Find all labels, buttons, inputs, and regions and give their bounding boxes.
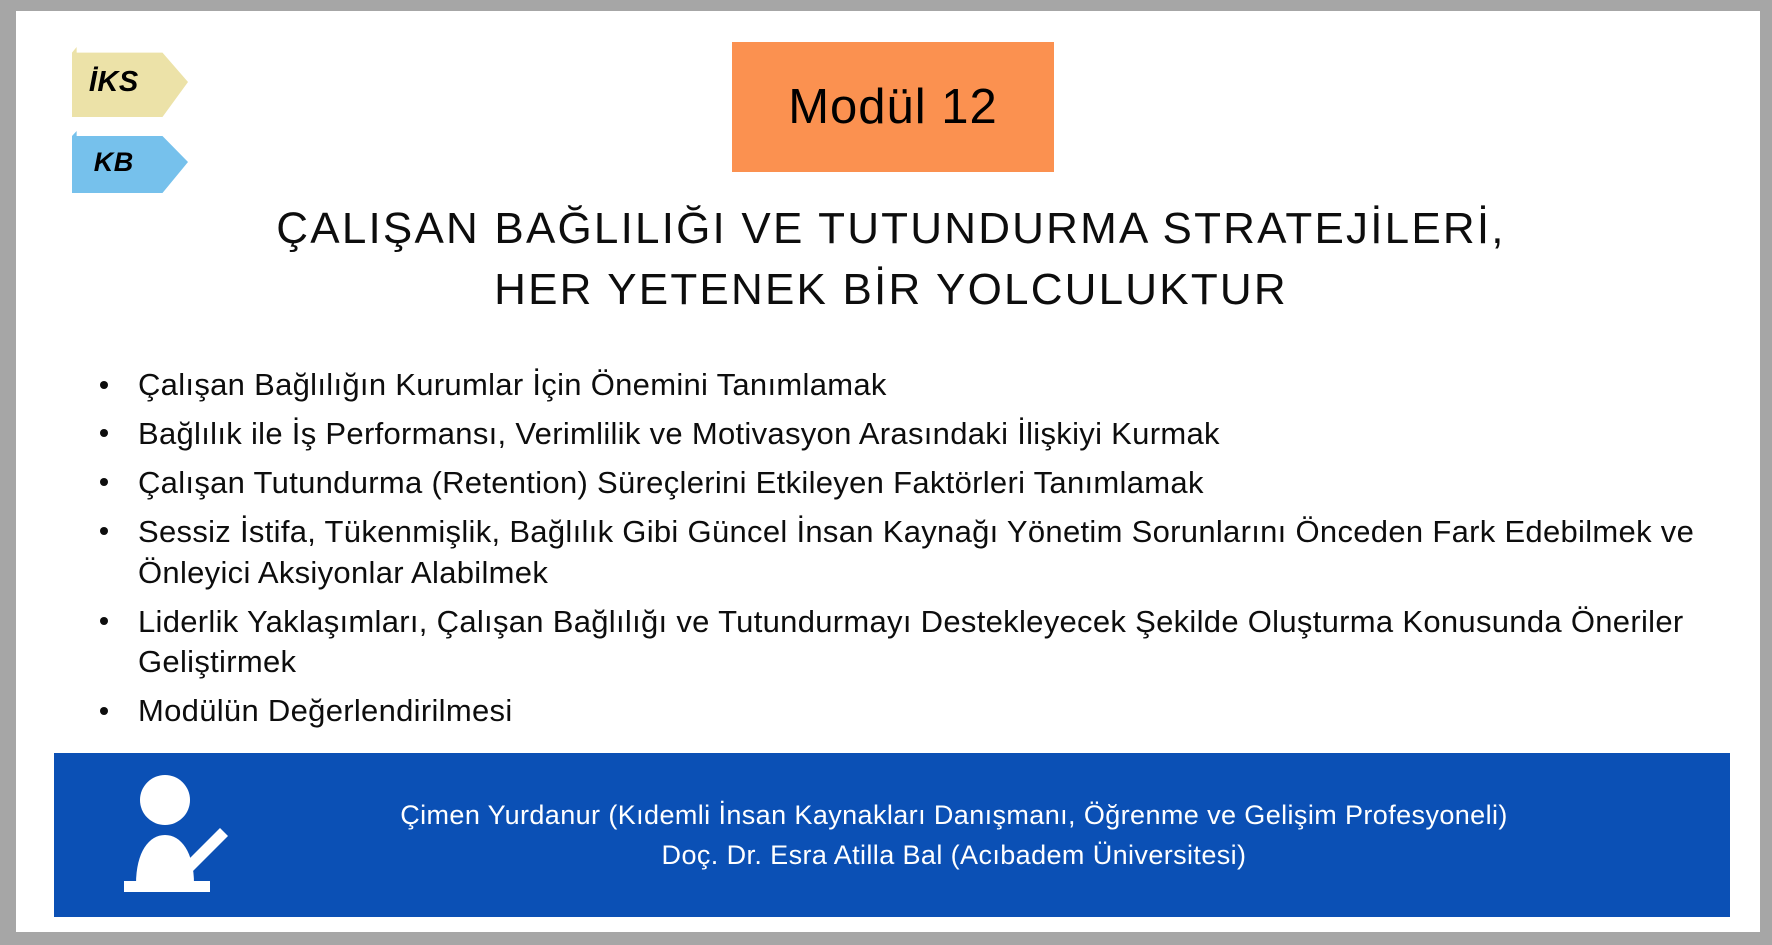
- bullet-dot-icon: [100, 429, 108, 437]
- list-item-label: Sessiz İstifa, Tükenmişlik, Bağlılık Gib…: [138, 512, 1710, 594]
- tag-banner-iks: İKS: [72, 47, 188, 117]
- module-badge-label: Modül 12: [788, 79, 998, 135]
- tag-label-kb: KB: [72, 131, 156, 193]
- objectives-list: Çalışan Bağlılığın Kurumlar İçin Önemini…: [90, 365, 1710, 740]
- presenter-name-1: Çimen Yurdanur (Kıdemli İnsan Kaynakları…: [400, 795, 1508, 836]
- bullet-dot-icon: [100, 707, 108, 715]
- list-item: Bağlılık ile İş Performansı, Verimlilik …: [90, 414, 1710, 455]
- list-item: Çalışan Bağlılığın Kurumlar İçin Önemini…: [90, 365, 1710, 406]
- list-item-label: Çalışan Tutundurma (Retention) Süreçleri…: [138, 463, 1710, 504]
- presenter-pointer-icon: [116, 769, 248, 899]
- bullet-dot-icon: [100, 527, 108, 535]
- bullet-dot-icon: [100, 478, 108, 486]
- list-item-label: Bağlılık ile İş Performansı, Verimlilik …: [138, 414, 1710, 455]
- list-item-label: Liderlik Yaklaşımları, Çalışan Bağlılığı…: [138, 602, 1710, 684]
- list-item-label: Çalışan Bağlılığın Kurumlar İçin Önemini…: [138, 365, 1710, 406]
- list-item: Liderlik Yaklaşımları, Çalışan Bağlılığı…: [90, 602, 1710, 684]
- presenter-name-2: Doç. Dr. Esra Atilla Bal (Acıbadem Ünive…: [662, 835, 1247, 876]
- list-item-label: Modülün Değerlendirilmesi: [138, 691, 1710, 732]
- slide-outer-frame: İKS KB Modül 12 ÇALIŞAN BAĞLILIĞI VE TUT…: [0, 0, 1772, 945]
- slide-title: ÇALIŞAN BAĞLILIĞI VE TUTUNDURMA STRATEJİ…: [136, 199, 1646, 320]
- list-item: Çalışan Tutundurma (Retention) Süreçleri…: [90, 463, 1710, 504]
- slide-canvas: İKS KB Modül 12 ÇALIŞAN BAĞLILIĞI VE TUT…: [16, 11, 1760, 932]
- tag-banner-kb: KB: [72, 131, 188, 193]
- slide-title-line-1: ÇALIŞAN BAĞLILIĞI VE TUTUNDURMA STRATEJİ…: [136, 199, 1646, 260]
- presenter-footer-bar: Çimen Yurdanur (Kıdemli İnsan Kaynakları…: [54, 753, 1730, 917]
- bullet-dot-icon: [100, 617, 108, 625]
- bullet-dot-icon: [100, 381, 108, 389]
- tag-label-iks: İKS: [72, 47, 156, 117]
- list-item: Modülün Değerlendirilmesi: [90, 691, 1710, 732]
- module-badge: Modül 12: [732, 42, 1054, 172]
- presenter-names: Çimen Yurdanur (Kıdemli İnsan Kaynakları…: [254, 753, 1654, 917]
- slide-title-line-2: HER YETENEK BİR YOLCULUKTUR: [136, 260, 1646, 321]
- list-item: Sessiz İstifa, Tükenmişlik, Bağlılık Gib…: [90, 512, 1710, 594]
